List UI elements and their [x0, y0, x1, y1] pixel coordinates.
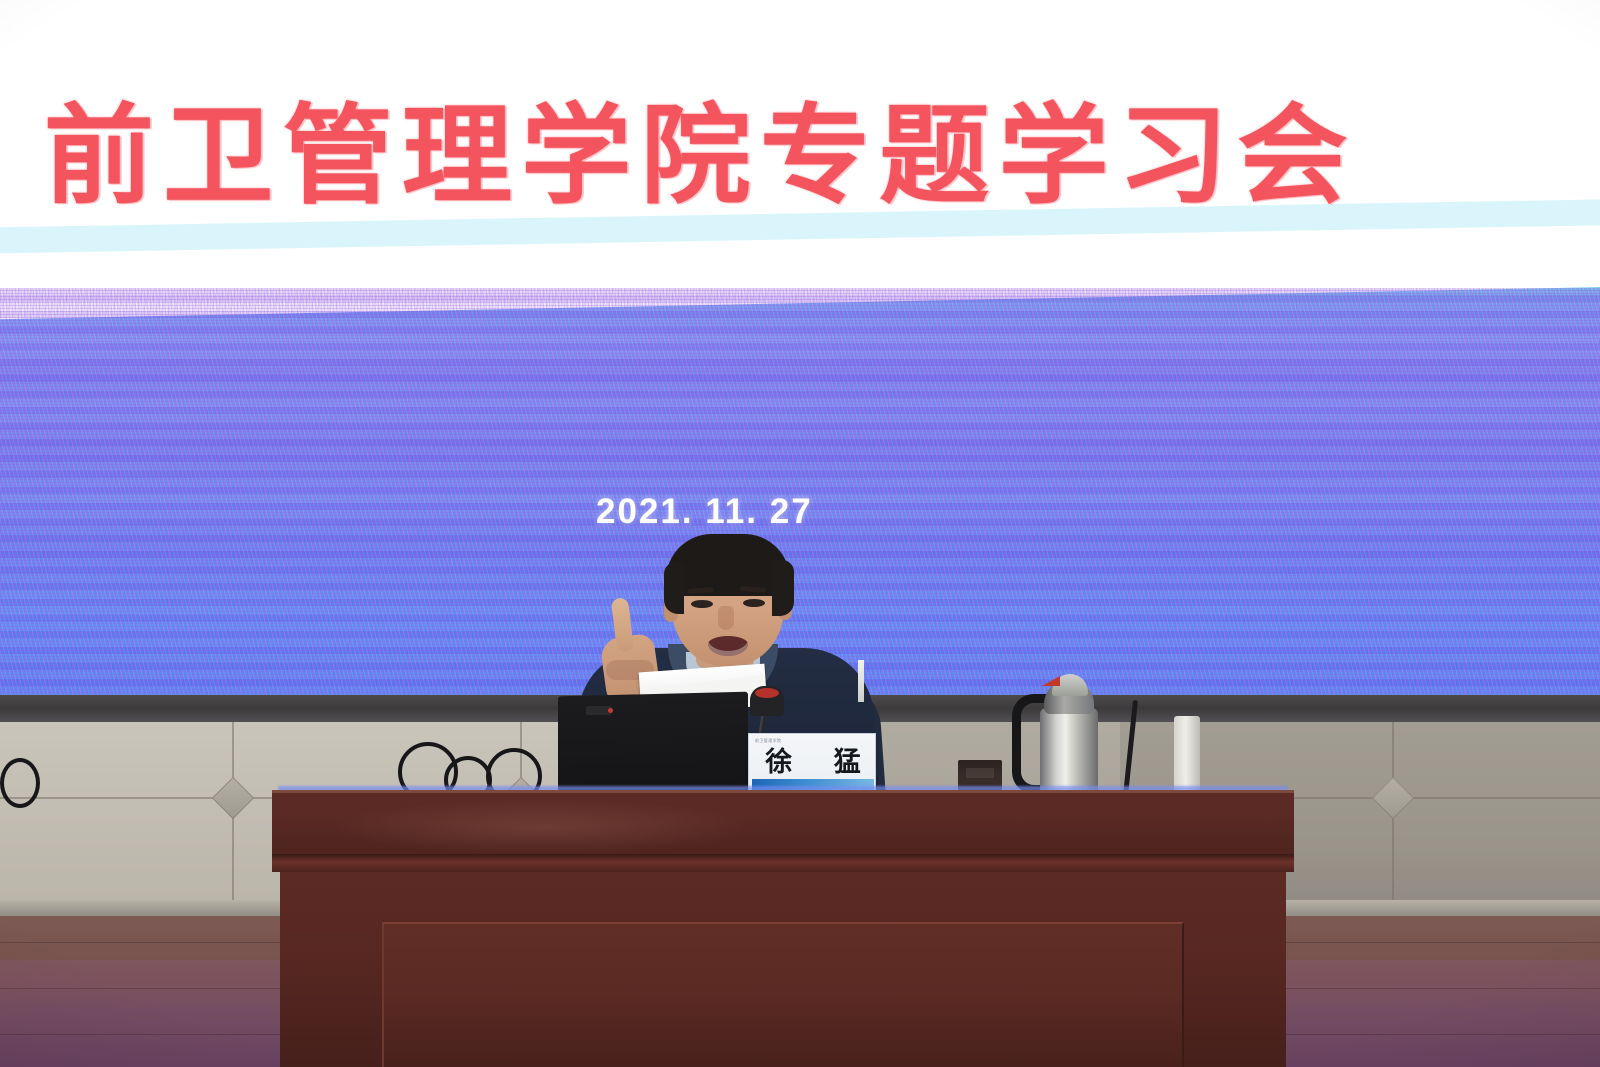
photograph-canvas: 前卫管理学院专题学习会 2021. 11. 27 — [0, 0, 1600, 1067]
speaker-right-eye — [743, 599, 765, 607]
desk-sheen — [332, 799, 752, 855]
cup-highlight — [966, 768, 994, 778]
speaker-left-eye — [691, 600, 713, 608]
desk-top-surface — [272, 790, 1294, 860]
laptop-logo-indicator — [608, 708, 613, 713]
desk-molding — [272, 854, 1294, 872]
podium-desk — [272, 790, 1294, 1067]
light-column-object — [1174, 716, 1200, 796]
white-pole — [858, 660, 864, 702]
coiled-cable — [0, 758, 40, 808]
led-screen-date: 2021. 11. 27 — [596, 492, 813, 532]
microphone-red-ring — [755, 688, 779, 698]
speaker-hair-right — [772, 560, 794, 616]
placard-header-text: 前卫管理学院 — [755, 738, 781, 744]
led-screen-title: 前卫管理学院专题学习会 — [44, 103, 1492, 211]
speaker-nose — [718, 606, 734, 630]
placard-name-text: 徐 猛 — [749, 748, 877, 778]
speaker-hair-left — [664, 562, 684, 614]
desk-recessed-panel — [382, 922, 1184, 1067]
